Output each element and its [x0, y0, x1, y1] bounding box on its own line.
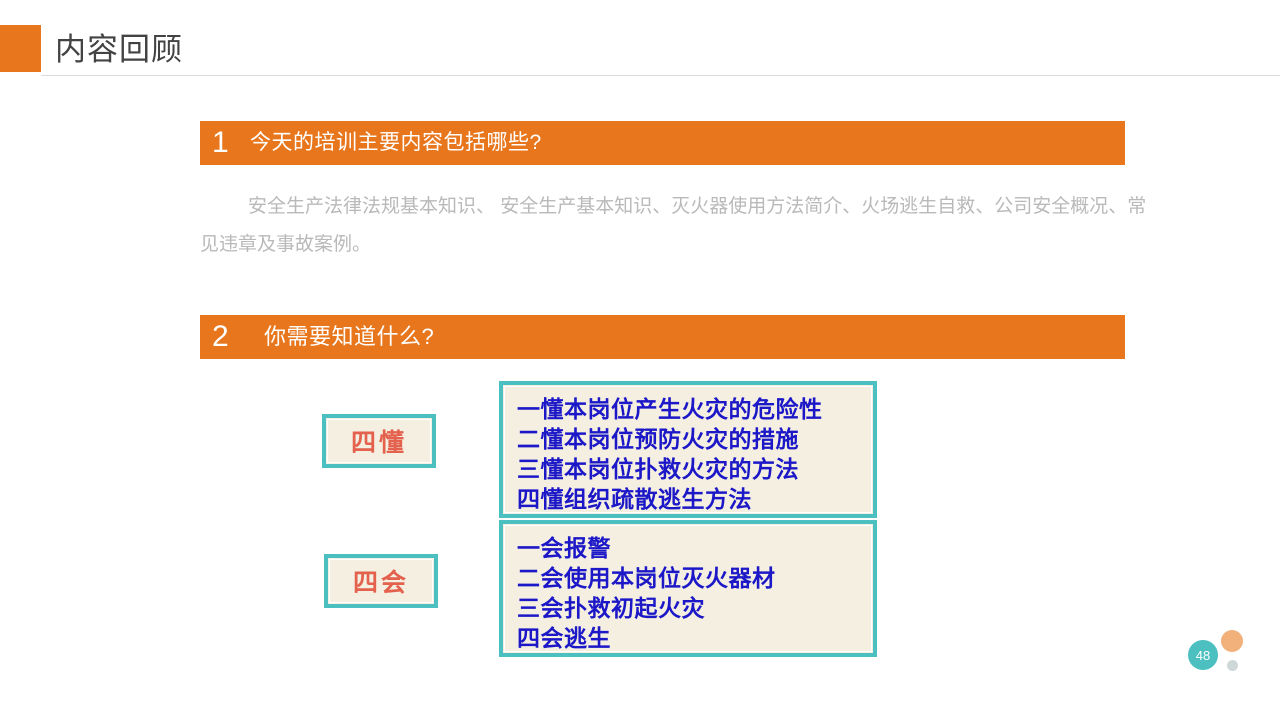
header-divider	[41, 75, 1280, 76]
section-title-1: 今天的培训主要内容包括哪些?	[250, 121, 542, 165]
group-content-box-sidong: 一懂本岗位产生火灾的危险性 二懂本岗位预防火灾的措施 三懂本岗位扑救火灾的方法 …	[499, 381, 877, 518]
header-accent-mark	[0, 25, 41, 72]
group-label-sidong: 四懂	[351, 423, 407, 459]
section-title-2: 你需要知道什么?	[264, 315, 434, 359]
list-item: 四懂组织疏散逃生方法	[517, 485, 873, 515]
section-bar-1: 1 今天的培训主要内容包括哪些?	[200, 121, 1125, 165]
list-item: 四会逃生	[517, 624, 873, 654]
badge-accent-dot-icon	[1221, 630, 1243, 652]
section-1-body: 安全生产法律法规基本知识、 安全生产基本知识、灭火器使用方法简介、火场逃生自救、…	[200, 188, 1160, 264]
list-item: 一会报警	[517, 534, 873, 564]
group-label-sihui: 四会	[353, 563, 409, 599]
section-number-2: 2	[212, 315, 242, 359]
list-item: 三懂本岗位扑救火灾的方法	[517, 455, 873, 485]
group-content-box-sihui: 一会报警 二会使用本岗位灭火器材 三会扑救初起火灾 四会逃生	[499, 520, 877, 657]
page-title: 内容回顾	[55, 28, 183, 72]
group-label-box-sidong: 四懂	[322, 414, 436, 468]
section-1-body-line-1: 安全生产法律法规基本知识、 安全生产基本知识、灭火器使用方法简介、火场逃生自救、	[248, 196, 994, 217]
section-number-1: 1	[212, 121, 242, 165]
group-label-box-sihui: 四会	[324, 554, 438, 608]
slide-canvas: 内容回顾 1 今天的培训主要内容包括哪些? 安全生产法律法规基本知识、 安全生产…	[0, 0, 1280, 720]
list-item: 三会扑救初起火灾	[517, 594, 873, 624]
list-item: 二懂本岗位预防火灾的措施	[517, 425, 873, 455]
section-bar-2: 2 你需要知道什么?	[200, 315, 1125, 359]
page-number-badge: 48	[1188, 640, 1218, 670]
list-item: 二会使用本岗位灭火器材	[517, 564, 873, 594]
list-item: 一懂本岗位产生火灾的危险性	[517, 395, 873, 425]
badge-small-dot-icon	[1227, 660, 1238, 671]
